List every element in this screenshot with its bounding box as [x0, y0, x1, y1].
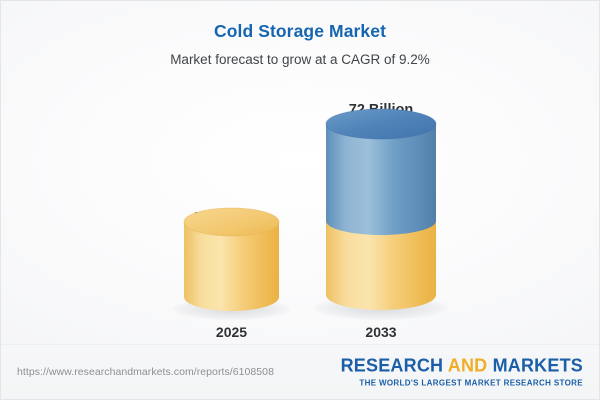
- category-label-2033: 2033: [365, 324, 396, 340]
- logo-tagline: THE WORLD'S LARGEST MARKET RESEARCH STOR…: [341, 380, 583, 388]
- category-label-2025: 2025: [216, 324, 247, 340]
- logo-wordmark: RESEARCH AND MARKETS: [341, 357, 583, 375]
- cylinder-2025-svg: [184, 208, 279, 311]
- footer-bar: https://www.researchandmarkets.com/repor…: [1, 344, 599, 399]
- source-url[interactable]: https://www.researchandmarkets.com/repor…: [17, 366, 274, 378]
- infographic-card: Cold Storage Market Market forecast to g…: [0, 0, 600, 400]
- chart-plot-area: 35.7 Billion: [1, 1, 600, 346]
- logo-word-markets: MARKETS: [493, 356, 583, 376]
- cylinder-2033: [326, 109, 436, 311]
- cylinder-2033-svg: [326, 109, 436, 311]
- logo-word-and: AND: [448, 356, 488, 376]
- research-and-markets-logo[interactable]: RESEARCH AND MARKETS THE WORLD'S LARGEST…: [341, 357, 583, 388]
- cylinder-2025: [184, 208, 279, 311]
- logo-word-research: RESEARCH: [341, 356, 444, 376]
